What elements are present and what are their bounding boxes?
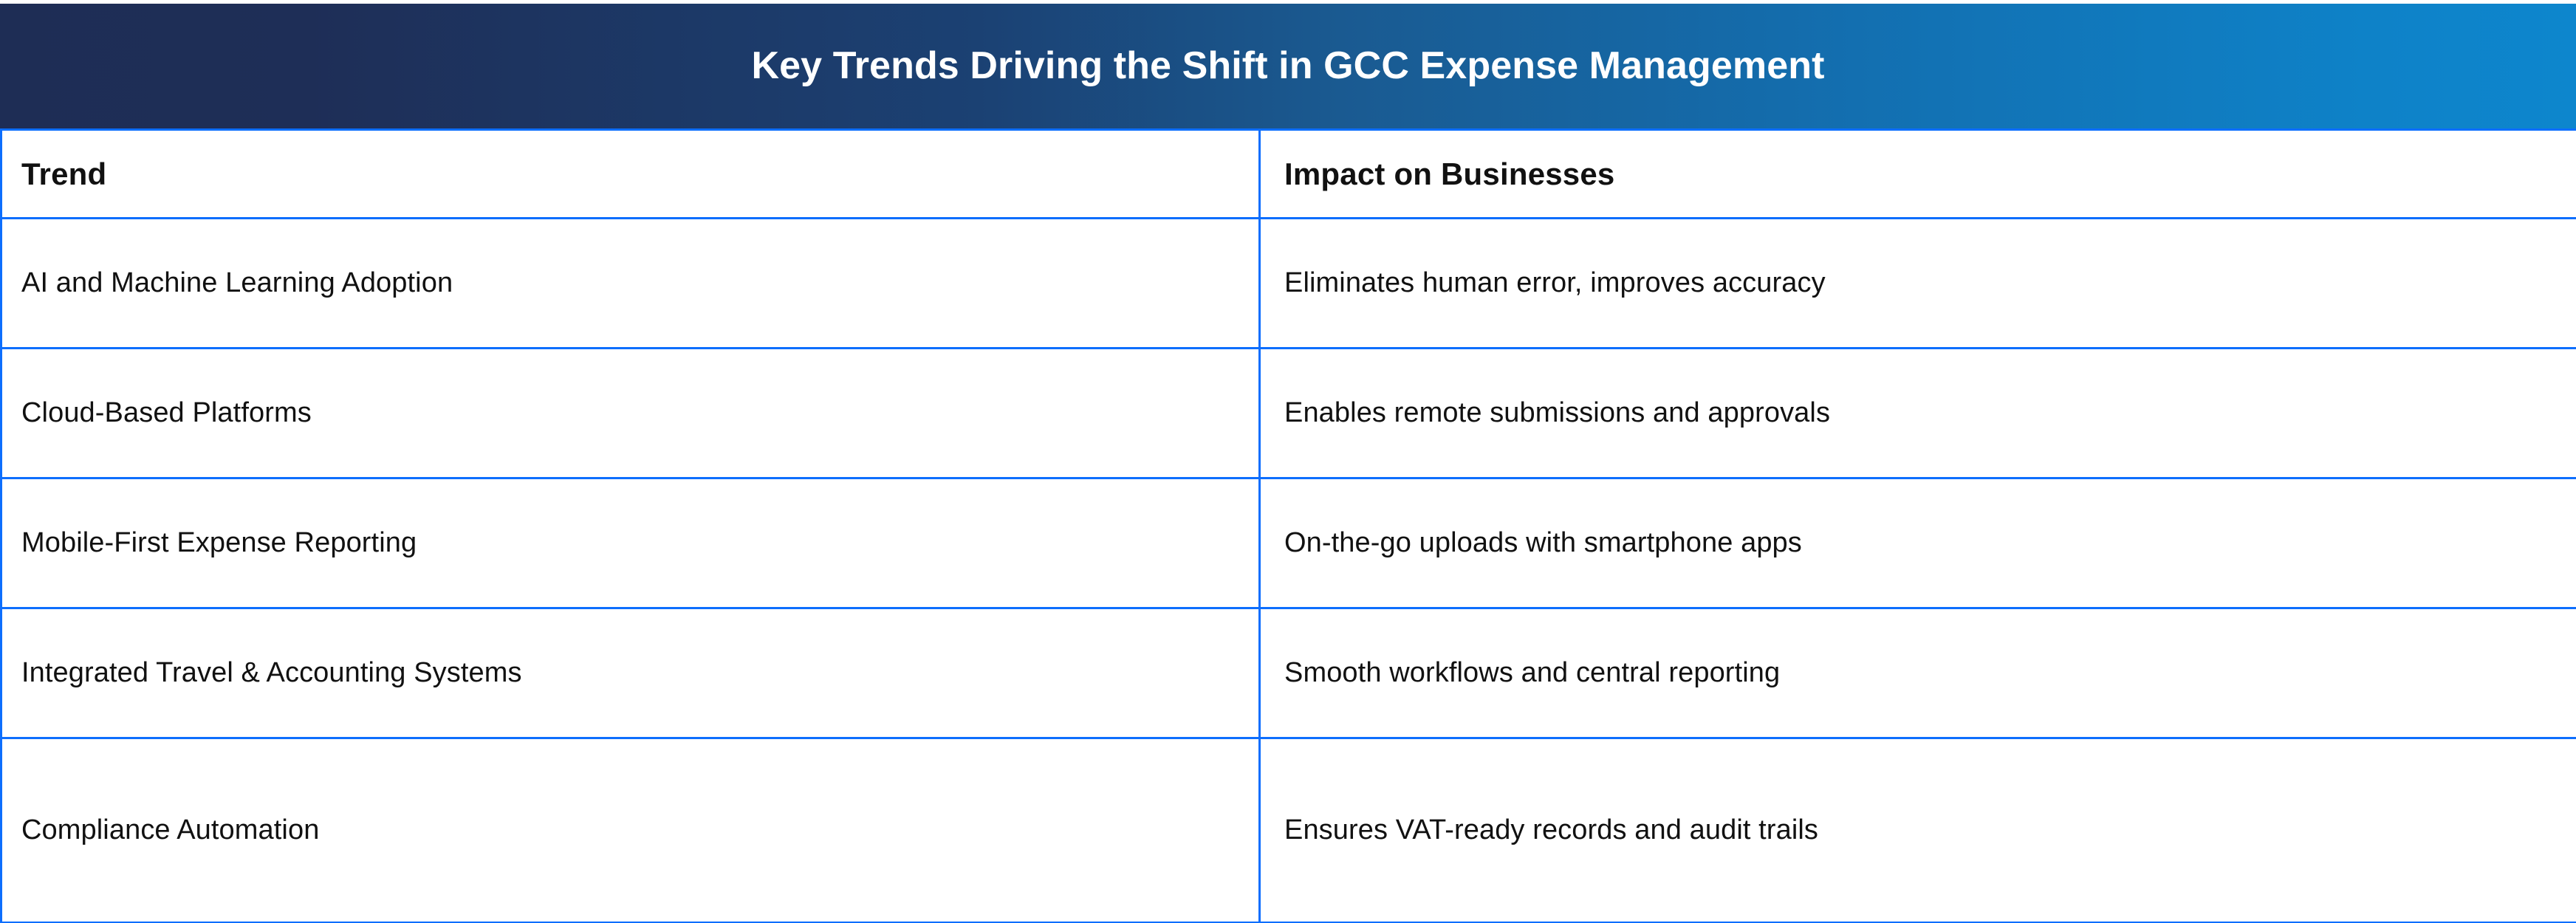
infographic-root: Key Trends Driving the Shift in GCC Expe… [0,0,2576,923]
table-header-row: Trend Impact on Businesses [1,130,2576,219]
cell-trend: Mobile-First Expense Reporting [1,478,1260,608]
table-row: Compliance AutomationEnsures VAT-ready r… [1,738,2576,923]
table-row: Integrated Travel & Accounting SystemsSm… [1,608,2576,738]
cell-impact: Eliminates human error, improves accurac… [1260,219,2576,349]
table-row: AI and Machine Learning AdoptionEliminat… [1,219,2576,349]
cell-impact: Enables remote submissions and approvals [1260,349,2576,478]
page-title: Key Trends Driving the Shift in GCC Expe… [751,45,1824,87]
column-header-impact: Impact on Businesses [1260,130,2576,219]
column-header-trend: Trend [1,130,1260,219]
cell-trend: AI and Machine Learning Adoption [1,219,1260,349]
cell-trend: Compliance Automation [1,738,1260,923]
table-header: Trend Impact on Businesses [1,130,2576,219]
cell-impact: Smooth workflows and central reporting [1260,608,2576,738]
cell-trend: Cloud-Based Platforms [1,349,1260,478]
trends-table: Trend Impact on Businesses AI and Machin… [0,128,2576,923]
table-body: AI and Machine Learning AdoptionEliminat… [1,219,2576,923]
title-banner: Key Trends Driving the Shift in GCC Expe… [0,4,2576,128]
cell-impact: On-the-go uploads with smartphone apps [1260,478,2576,608]
table-row: Cloud-Based PlatformsEnables remote subm… [1,349,2576,478]
trends-table-container: Trend Impact on Businesses AI and Machin… [0,128,2576,923]
table-row: Mobile-First Expense ReportingOn-the-go … [1,478,2576,608]
cell-impact: Ensures VAT-ready records and audit trai… [1260,738,2576,923]
cell-trend: Integrated Travel & Accounting Systems [1,608,1260,738]
